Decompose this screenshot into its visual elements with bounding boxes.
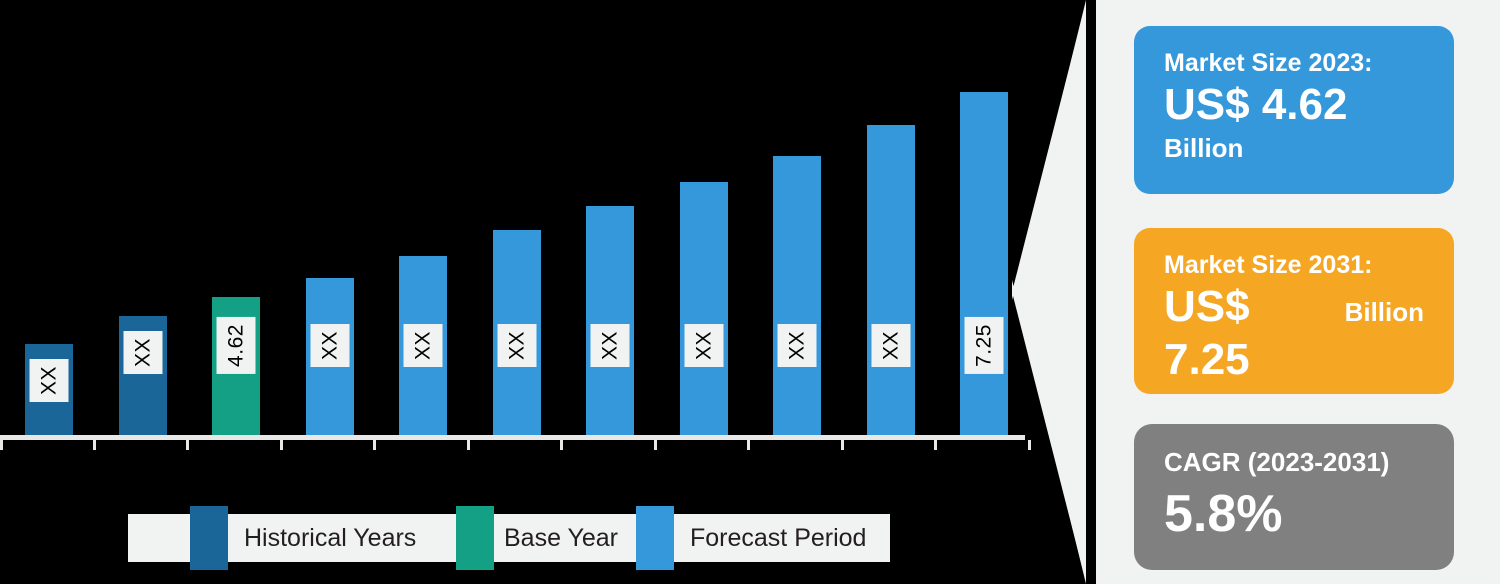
bar-value-label: XX: [310, 324, 349, 367]
bar-6[interactable]: XX: [493, 230, 541, 437]
market-size-2031-value: US$ 7.25: [1164, 281, 1334, 387]
legend-swatch-2: [456, 506, 494, 570]
bar-9[interactable]: XX: [773, 156, 821, 437]
market-size-2031-value-row: US$ 7.25 Billion: [1164, 281, 1424, 387]
chart-legend: Historical YearsBase YearForecast Period: [128, 514, 890, 562]
bar-4[interactable]: XX: [306, 278, 354, 437]
x-axis-tick: [93, 440, 96, 450]
market-size-2023-title: Market Size 2023:: [1164, 48, 1424, 79]
x-axis-tick: [654, 440, 657, 450]
x-axis-tick: [747, 440, 750, 450]
x-axis-tick: [280, 440, 283, 450]
market-size-2031-card: Market Size 2031: US$ 7.25 Billion: [1134, 228, 1454, 394]
bar-2[interactable]: XX: [119, 316, 167, 437]
x-axis-tick: [467, 440, 470, 450]
legend-swatch-1: [190, 506, 228, 570]
bar-value-label: XX: [684, 324, 723, 367]
bar-value-label: XX: [404, 324, 443, 367]
bar-value-label: XX: [123, 331, 162, 374]
cagr-title: CAGR (2023-2031): [1164, 446, 1424, 479]
cagr-card: CAGR (2023-2031) 5.8%: [1134, 424, 1454, 570]
callout-arrow-icon: [1005, 0, 1090, 584]
bar-value-label: 7.25: [965, 317, 1004, 374]
x-axis-line: [0, 435, 1025, 440]
x-axis-tick: [934, 440, 937, 450]
x-axis-tick: [186, 440, 189, 450]
legend-label-2: Base Year: [504, 514, 618, 562]
bar-value-label: XX: [871, 324, 910, 367]
bar-value-label: XX: [591, 324, 630, 367]
market-size-2031-unit: Billion: [1345, 296, 1424, 330]
bar-1[interactable]: XX: [25, 344, 73, 437]
bar-10[interactable]: XX: [867, 125, 915, 437]
stats-panel: Market Size 2023: US$ 4.62 Billion Marke…: [1096, 0, 1500, 584]
bar-8[interactable]: XX: [680, 182, 728, 437]
market-size-2031-title: Market Size 2031:: [1164, 250, 1424, 281]
bar-value-label: 4.62: [217, 317, 256, 374]
x-axis-tick: [841, 440, 844, 450]
bar-value-label: XX: [778, 324, 817, 367]
bar-3[interactable]: 4.62: [212, 297, 260, 437]
legend-label-1: Historical Years: [244, 514, 416, 562]
bar-value-label: XX: [497, 324, 536, 367]
market-size-2023-card: Market Size 2023: US$ 4.62 Billion: [1134, 26, 1454, 194]
legend-swatch-3: [636, 506, 674, 570]
market-size-2023-value: US$ 4.62: [1164, 79, 1424, 132]
bar-value-label: XX: [30, 359, 69, 402]
market-size-2023-unit: Billion: [1164, 132, 1424, 166]
cagr-value: 5.8%: [1164, 483, 1424, 545]
x-axis-tick: [0, 440, 3, 450]
bar-5[interactable]: XX: [399, 256, 447, 437]
x-axis-tick: [373, 440, 376, 450]
x-axis-tick: [560, 440, 563, 450]
legend-label-3: Forecast Period: [690, 514, 866, 562]
bar-chart-plot-area: XXXX4.62XXXXXXXXXXXXXX7.25: [0, 0, 1028, 445]
bar-11[interactable]: 7.25: [960, 92, 1008, 437]
chart-panel: XXXX4.62XXXXXXXXXXXXXX7.25 Historical Ye…: [0, 0, 1090, 584]
bar-7[interactable]: XX: [586, 206, 634, 437]
